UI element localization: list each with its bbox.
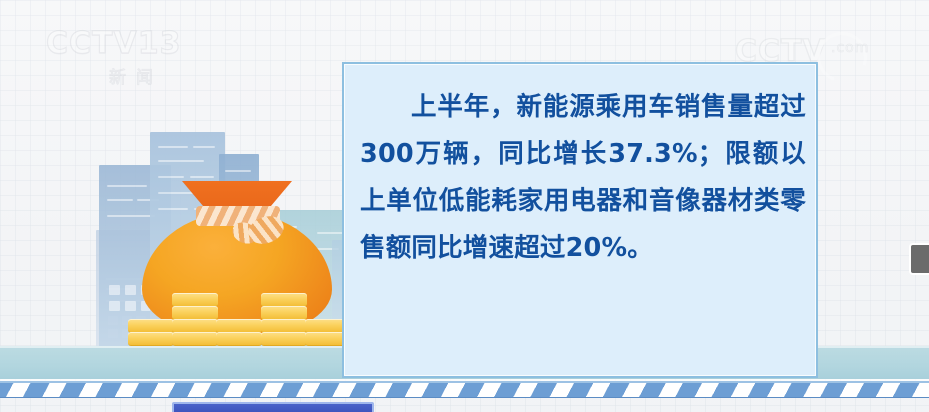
edge-chip-icon <box>909 243 929 275</box>
coin <box>172 319 218 333</box>
coin <box>172 306 218 320</box>
diagonal-stripe-bar <box>0 381 929 398</box>
coin <box>128 319 174 333</box>
coin <box>261 293 307 307</box>
coin-stack <box>261 294 307 346</box>
coin <box>172 293 218 307</box>
coin <box>172 332 218 346</box>
statistics-text-card: 上半年，新能源乘用车销售量超过300万辆，同比增长37.3%；限额以上单位低能耗… <box>342 62 818 378</box>
coin <box>128 332 174 346</box>
coin <box>216 319 262 333</box>
coin <box>216 332 262 346</box>
coin <box>261 332 307 346</box>
coin-stack <box>172 294 218 346</box>
coin <box>261 306 307 320</box>
coin-stack <box>216 320 262 346</box>
coin-stack <box>128 320 174 346</box>
broadcast-graphic-frame: 上半年，新能源乘用车销售量超过300万辆，同比增长37.3%；限额以上单位低能耗… <box>0 0 929 412</box>
coin <box>261 319 307 333</box>
coin-stacks <box>128 288 348 346</box>
statistics-text: 上半年，新能源乘用车销售量超过300万辆，同比增长37.3%；限额以上单位低能耗… <box>360 84 806 272</box>
lower-third-plate <box>172 402 374 412</box>
